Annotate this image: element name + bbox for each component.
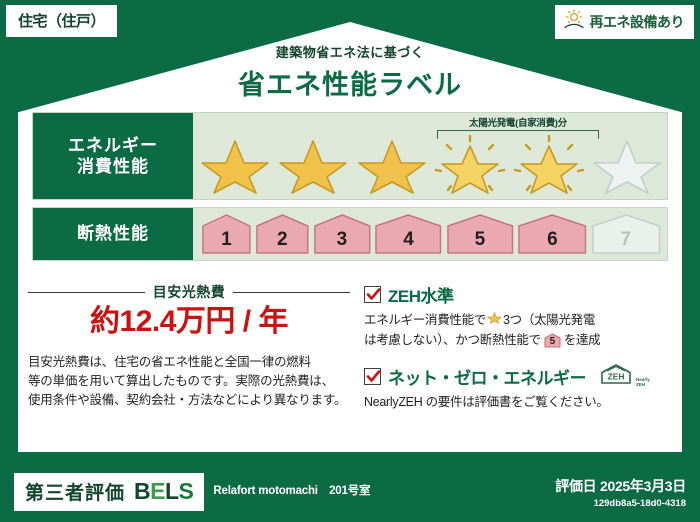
- energy-performance-label-box: エネルギー 消費性能: [33, 113, 193, 199]
- energy-label-line2: 消費性能: [77, 156, 149, 177]
- svg-text:ZEH: ZEH: [608, 371, 625, 381]
- zeh-standard-text-b: は考慮しない）、かつ断熱性能で: [364, 331, 541, 350]
- inline-house-number: 5: [550, 337, 555, 348]
- insulation-level-5: 5: [446, 213, 514, 255]
- sun-icon: [563, 9, 585, 34]
- insulation-level-6-number: 6: [547, 229, 558, 255]
- lower-content: 目安光熱費 約12.4万円 / 年 目安光熱費は、住宅の省エネ性能と全国一律の燃…: [28, 282, 672, 424]
- insulation-levels-area: 1 2 3 4 5: [193, 208, 667, 260]
- third-party-evaluation-label: 第三者評価: [25, 478, 125, 505]
- energy-performance-row: エネルギー 消費性能 太陽光発電(自家消費)分: [32, 112, 668, 200]
- star-3: [356, 135, 428, 195]
- insulation-level-scale: 1 2 3 4 5: [201, 213, 661, 255]
- net-zero-body: NearlyZEH の要件は評価書をご覧ください。: [364, 393, 662, 412]
- renewable-energy-badge: 再エネ設備あり: [555, 5, 695, 39]
- label-footer: 第三者評価 BELS Relafort motomachi 201号室 評価日 …: [0, 462, 700, 522]
- insulation-level-4-number: 4: [403, 229, 414, 255]
- bels-letter-l: L: [165, 478, 179, 504]
- heading-rule-left: [28, 292, 145, 293]
- zeh-logo: ZEH Nearly ZEH: [598, 363, 650, 390]
- label-title: 建築物省エネ法に基づく 省エネ性能ラベル: [0, 42, 700, 102]
- insulation-level-2: 2: [255, 213, 310, 255]
- insulation-label: 断熱性能: [77, 223, 149, 244]
- net-zero-heading: ネット・ゼロ・エネルギー ZEH Nearly ZEH: [364, 363, 662, 390]
- energy-stars-area: 太陽光発電(自家消費)分: [193, 113, 667, 199]
- insulation-level-5-number: 5: [475, 229, 486, 255]
- insulation-level-3-number: 3: [337, 229, 348, 255]
- insulation-level-3: 3: [313, 213, 372, 255]
- evaluation-date-label: 評価日: [555, 478, 596, 494]
- solar-annotation-label: 太陽光発電(自家消費)分: [429, 115, 607, 129]
- heading-rule-right: [233, 292, 350, 293]
- solar-bracket-icon: [437, 130, 599, 139]
- insulation-level-7-number: 7: [621, 229, 632, 255]
- insulation-level-2-number: 2: [277, 229, 288, 255]
- insulation-level-1: 1: [201, 213, 252, 255]
- utility-cost-note: 目安光熱費は、住宅の省エネ性能と全国一律の燃料 等の単価を用いて算出したものです…: [28, 353, 350, 411]
- utility-cost-heading: 目安光熱費: [28, 282, 350, 302]
- bels-badge: 第三者評価 BELS: [14, 473, 204, 511]
- utility-cost-heading-label: 目安光熱費: [153, 282, 226, 302]
- insulation-level-1-number: 1: [221, 229, 232, 255]
- evaluation-date-value: 2025年3月3日: [600, 478, 686, 494]
- star-5-solar: [513, 135, 585, 195]
- zeh-standard-checkbox[interactable]: [364, 286, 381, 303]
- insulation-performance-row: 断熱性能 1 2 3: [32, 207, 668, 261]
- title-subtitle: 建築物省エネ法に基づく: [0, 42, 700, 61]
- star-2: [277, 135, 349, 195]
- evaluation-info: 評価日 2025年3月3日 129db8a5-18d0-4318: [555, 476, 686, 509]
- star-1: [199, 135, 271, 195]
- net-zero-body-text: NearlyZEH の要件は評価書をご覧ください。: [364, 393, 662, 412]
- star-6-empty: [591, 135, 663, 195]
- bels-letter-e: E: [150, 478, 165, 504]
- utility-cost-note-line-1: 目安光熱費は、住宅の省エネ性能と全国一律の燃料: [28, 353, 350, 372]
- net-zero-energy-block: ネット・ゼロ・エネルギー ZEH Nearly ZEH: [364, 363, 662, 412]
- zeh-standard-heading: ZEH水準: [364, 282, 662, 307]
- zeh-logo-subtext: Nearly ZEH: [636, 378, 650, 390]
- inline-insulation-house-icon: 5: [544, 333, 561, 348]
- bels-logo: BELS: [134, 478, 193, 505]
- insulation-level-7-empty: 7: [591, 213, 661, 255]
- property-name: Relafort motomachi 201号室: [213, 484, 393, 500]
- solar-annotation: 太陽光発電(自家消費)分: [429, 115, 607, 139]
- zeh-standard-text-c: を達成: [564, 331, 601, 350]
- net-zero-checkbox[interactable]: [364, 368, 381, 385]
- energy-performance-label: 住宅（住戸） 再エネ設備あり 建築物省エネ法に基づく 省エネ性能ラベル: [0, 0, 700, 522]
- net-zero-title: ネット・ゼロ・エネルギー: [388, 364, 586, 389]
- utility-cost-note-line-3: 使用条件や設備、契約会社・方法などにより異なります。: [28, 391, 350, 410]
- zeh-house-logo-icon: ZEH: [598, 363, 634, 390]
- renewable-badge-label: 再エネ設備あり: [590, 12, 685, 32]
- energy-label-line1: エネルギー: [68, 135, 158, 156]
- evaluation-date: 評価日 2025年3月3日: [555, 476, 686, 496]
- zeh-column: ZEH水準 エネルギー消費性能で 3つ（太陽光発電 は考慮しない）、かつ断熱性能…: [360, 282, 662, 424]
- evaluation-id: 129db8a5-18d0-4318: [555, 498, 686, 509]
- star-4-solar: [434, 135, 506, 195]
- insulation-level-6: 6: [517, 213, 587, 255]
- bels-letter-s: S: [179, 478, 194, 504]
- zeh-standard-block: ZEH水準 エネルギー消費性能で 3つ（太陽光発電 は考慮しない）、かつ断熱性能…: [364, 282, 662, 350]
- zeh-standard-text-stars: 3つ（太陽光発電: [503, 311, 595, 330]
- zeh-logo-subtext-line2: ZEH: [636, 382, 645, 387]
- zeh-standard-text-a: エネルギー消費性能で: [364, 311, 486, 330]
- utility-cost-value: 約12.4万円 / 年: [28, 303, 350, 341]
- zeh-standard-body: エネルギー消費性能で 3つ（太陽光発電 は考慮しない）、かつ断熱性能で 5 を達…: [364, 310, 662, 350]
- utility-cost-column: 目安光熱費 約12.4万円 / 年 目安光熱費は、住宅の省エネ性能と全国一律の燃…: [28, 282, 360, 424]
- utility-cost-note-line-2: 等の単価を用いて算出したものです。実際の光熱費は、: [28, 372, 350, 391]
- insulation-performance-label-box: 断熱性能: [33, 208, 193, 260]
- inline-star-icon: [487, 310, 502, 331]
- bels-letter-b: B: [134, 478, 150, 504]
- star-rating: [199, 135, 663, 195]
- insulation-level-4: 4: [374, 213, 442, 255]
- performance-section: エネルギー 消費性能 太陽光発電(自家消費)分: [32, 112, 668, 268]
- title-main: 省エネ性能ラベル: [0, 63, 700, 102]
- zeh-standard-title: ZEH水準: [388, 282, 454, 307]
- house-type-tag: 住宅（住戸）: [6, 5, 117, 37]
